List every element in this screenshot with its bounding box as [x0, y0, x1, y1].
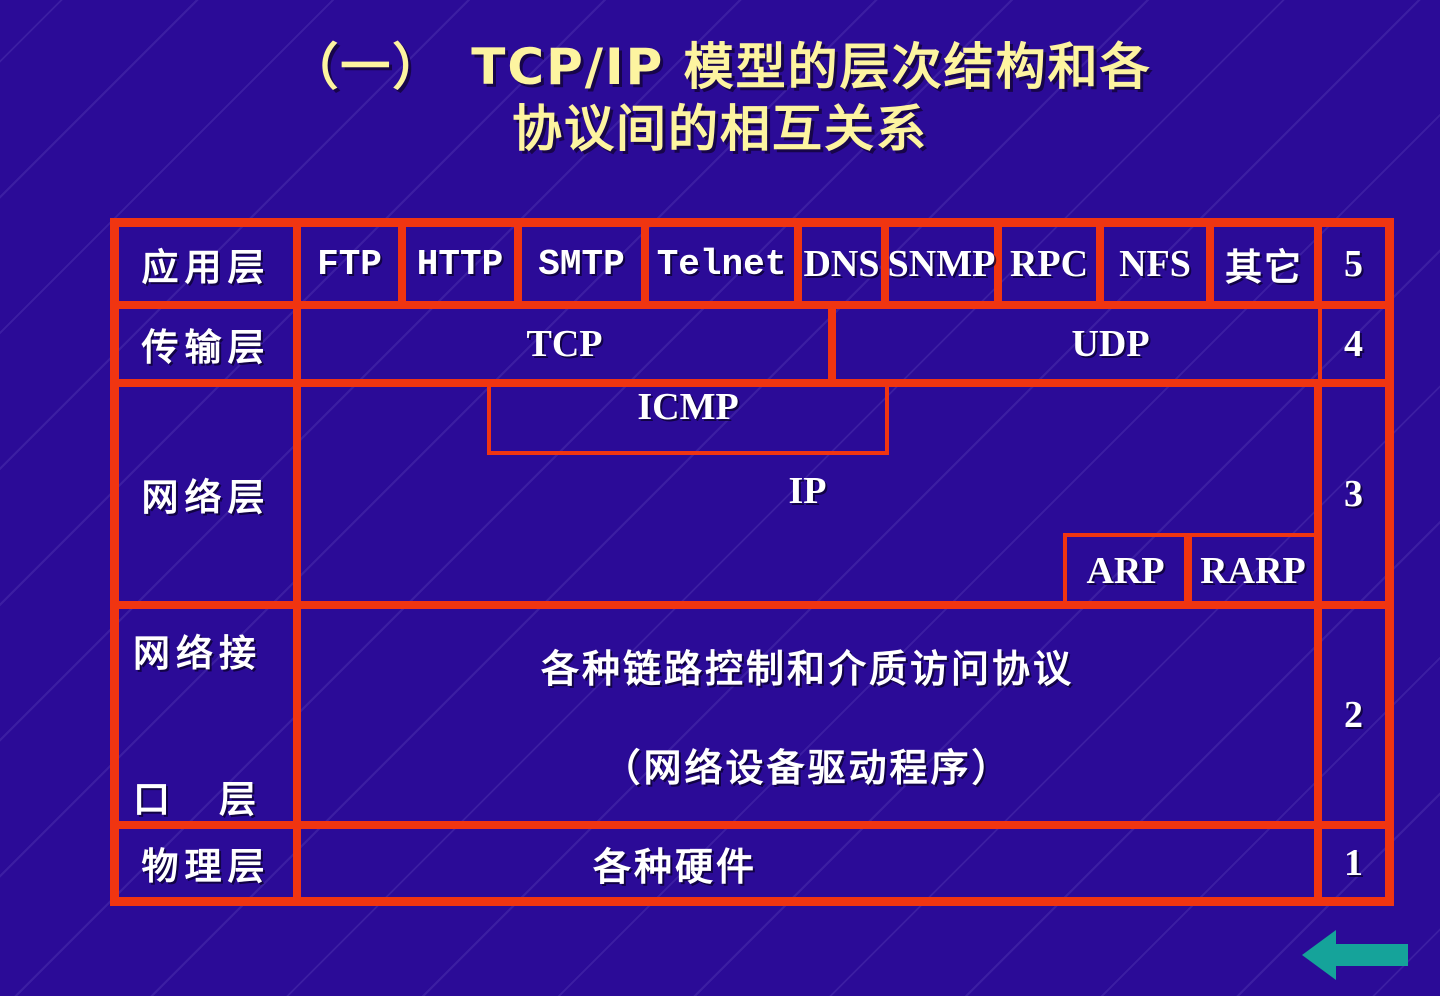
- tcpip-layer-table: 应用层 FTP HTTP SMTP Telnet DNS SNMP RPC NF…: [110, 218, 1394, 906]
- layer-name-network-interface: 网络接 口 层: [115, 605, 297, 825]
- layer-name-application: 应用层: [115, 223, 297, 305]
- back-arrow-button[interactable]: [1302, 928, 1410, 982]
- layer-number-3: 3: [1318, 383, 1389, 605]
- layer-name-line-2: 口 层: [133, 769, 262, 823]
- slide-canvas: （一） TCP/IP 模型的层次结构和各 协议间的相互关系 应用层 FTP HT…: [0, 0, 1440, 996]
- protocol-cell-udp[interactable]: UDP: [832, 305, 1389, 383]
- layer-number-4: 4: [1318, 305, 1389, 383]
- layer-number-5: 5: [1318, 223, 1389, 305]
- layer-content-network-interface: 各种链路控制和介质访问协议 （网络设备驱动程序）: [297, 605, 1318, 825]
- layer-name-network: 网络层: [115, 383, 297, 605]
- protocol-cell-other[interactable]: 其它: [1210, 223, 1318, 305]
- network-interface-text-line-2: （网络设备驱动程序）: [602, 737, 1012, 792]
- layer-name-transport: 传输层: [115, 305, 297, 383]
- title-line-1: （一） TCP/IP 模型的层次结构和各: [288, 38, 1151, 96]
- network-interface-text-line-1: 各种链路控制和介质访问协议: [541, 638, 1074, 693]
- page-title: （一） TCP/IP 模型的层次结构和各 协议间的相互关系: [0, 36, 1440, 160]
- protocol-cell-smtp[interactable]: SMTP: [518, 223, 645, 305]
- protocol-cell-tcp[interactable]: TCP: [297, 305, 832, 383]
- protocol-cell-telnet[interactable]: Telnet: [645, 223, 798, 305]
- layer-name-physical: 物理层: [115, 825, 297, 901]
- title-line-2: 协议间的相互关系: [0, 98, 1440, 160]
- protocol-cell-arp[interactable]: ARP: [1063, 533, 1188, 605]
- layer-number-2: 2: [1318, 605, 1389, 825]
- layer-name-line-1: 网络接: [133, 623, 262, 677]
- protocol-cell-rpc[interactable]: RPC: [998, 223, 1100, 305]
- protocol-cell-nfs[interactable]: NFS: [1100, 223, 1210, 305]
- protocol-cell-dns[interactable]: DNS: [798, 223, 885, 305]
- back-arrow-icon[interactable]: [1302, 928, 1410, 982]
- layer-content-physical: 各种硬件: [297, 825, 1318, 901]
- protocol-cell-snmp[interactable]: SNMP: [885, 223, 998, 305]
- protocol-cell-icmp[interactable]: ICMP: [487, 385, 889, 455]
- protocol-cell-ftp[interactable]: FTP: [297, 223, 402, 305]
- layer-number-1: 1: [1318, 825, 1389, 901]
- protocol-cell-rarp[interactable]: RARP: [1188, 533, 1318, 605]
- protocol-cell-http[interactable]: HTTP: [402, 223, 518, 305]
